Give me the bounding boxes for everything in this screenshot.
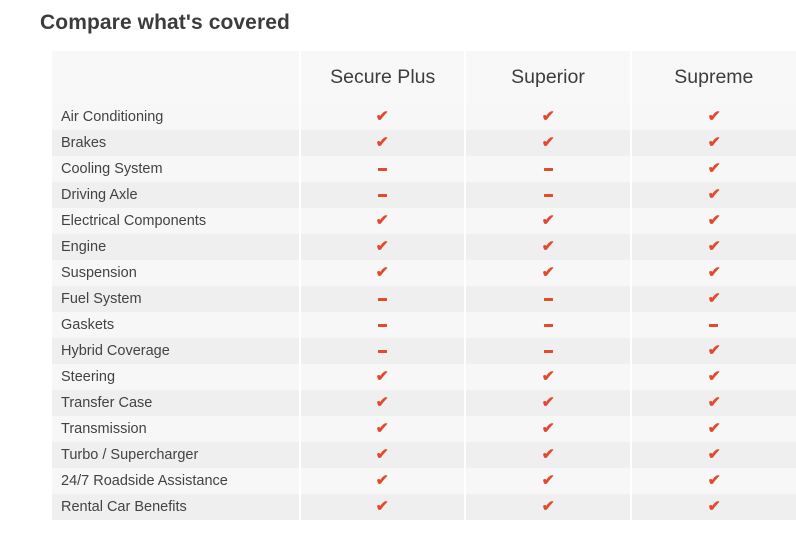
check-icon: ✔ — [541, 369, 554, 384]
cell-supreme: ✔ — [631, 182, 796, 208]
cell-secure-plus: ✔ — [300, 364, 465, 390]
cell-superior — [465, 156, 630, 182]
check-icon: ✔ — [376, 421, 389, 436]
cell-superior: ✔ — [465, 494, 630, 520]
dash-icon — [378, 298, 387, 301]
check-icon: ✔ — [376, 447, 389, 462]
dash-icon — [544, 168, 553, 171]
cell-superior: ✔ — [465, 468, 630, 494]
table-row: Electrical Components✔✔✔ — [52, 208, 796, 234]
cell-secure-plus: ✔ — [300, 390, 465, 416]
table-body: Air Conditioning✔✔✔Brakes✔✔✔Cooling Syst… — [52, 104, 796, 520]
check-icon: ✔ — [541, 499, 554, 514]
row-label-steering: Steering — [52, 364, 300, 390]
table-row: Brakes✔✔✔ — [52, 130, 796, 156]
cell-supreme: ✔ — [631, 286, 796, 312]
table-row: Steering✔✔✔ — [52, 364, 796, 390]
cell-supreme: ✔ — [631, 104, 796, 130]
row-label-brakes: Brakes — [52, 130, 300, 156]
dash-icon — [378, 194, 387, 197]
check-icon: ✔ — [541, 265, 554, 280]
cell-secure-plus: ✔ — [300, 494, 465, 520]
cell-secure-plus — [300, 156, 465, 182]
row-label-turbo-supercharger: Turbo / Supercharger — [52, 442, 300, 468]
check-icon: ✔ — [707, 161, 720, 176]
table-row: Hybrid Coverage✔ — [52, 338, 796, 364]
compare-table: Secure Plus Superior Supreme Air Conditi… — [52, 51, 796, 520]
dash-icon — [544, 350, 553, 353]
table-row: Suspension✔✔✔ — [52, 260, 796, 286]
cell-supreme: ✔ — [631, 234, 796, 260]
row-label-suspension: Suspension — [52, 260, 300, 286]
cell-secure-plus: ✔ — [300, 442, 465, 468]
row-label-transfer-case: Transfer Case — [52, 390, 300, 416]
cell-secure-plus: ✔ — [300, 130, 465, 156]
check-icon: ✔ — [707, 213, 720, 228]
check-icon: ✔ — [707, 187, 720, 202]
row-label-24-7-roadside-assistance: 24/7 Roadside Assistance — [52, 468, 300, 494]
cell-superior: ✔ — [465, 442, 630, 468]
row-label-electrical-components: Electrical Components — [52, 208, 300, 234]
table-row: Gaskets — [52, 312, 796, 338]
check-icon: ✔ — [541, 239, 554, 254]
cell-superior — [465, 312, 630, 338]
table-row: Engine✔✔✔ — [52, 234, 796, 260]
check-icon: ✔ — [376, 369, 389, 384]
cell-superior: ✔ — [465, 208, 630, 234]
cell-supreme: ✔ — [631, 494, 796, 520]
cell-superior: ✔ — [465, 390, 630, 416]
cell-secure-plus: ✔ — [300, 208, 465, 234]
cell-supreme: ✔ — [631, 260, 796, 286]
dash-icon — [378, 168, 387, 171]
column-header-secure-plus[interactable]: Secure Plus — [300, 51, 465, 104]
dash-icon — [709, 324, 718, 327]
row-label-air-conditioning: Air Conditioning — [52, 104, 300, 130]
cell-secure-plus: ✔ — [300, 416, 465, 442]
cell-superior: ✔ — [465, 234, 630, 260]
row-label-fuel-system: Fuel System — [52, 286, 300, 312]
dash-icon — [544, 298, 553, 301]
cell-superior: ✔ — [465, 130, 630, 156]
coverage-comparison-table: Secure Plus Superior Supreme Air Conditi… — [52, 51, 796, 520]
check-icon: ✔ — [541, 109, 554, 124]
dash-icon — [378, 324, 387, 327]
check-icon: ✔ — [376, 473, 389, 488]
check-icon: ✔ — [376, 239, 389, 254]
cell-supreme: ✔ — [631, 390, 796, 416]
check-icon: ✔ — [707, 369, 720, 384]
cell-supreme: ✔ — [631, 416, 796, 442]
table-row: Fuel System✔ — [52, 286, 796, 312]
row-label-transmission: Transmission — [52, 416, 300, 442]
cell-supreme: ✔ — [631, 338, 796, 364]
check-icon: ✔ — [376, 499, 389, 514]
cell-secure-plus — [300, 286, 465, 312]
column-header-supreme[interactable]: Supreme — [631, 51, 796, 104]
table-row: 24/7 Roadside Assistance✔✔✔ — [52, 468, 796, 494]
table-row: Transfer Case✔✔✔ — [52, 390, 796, 416]
cell-superior — [465, 182, 630, 208]
check-icon: ✔ — [376, 109, 389, 124]
cell-secure-plus: ✔ — [300, 468, 465, 494]
check-icon: ✔ — [707, 135, 720, 150]
column-header-superior[interactable]: Superior — [465, 51, 630, 104]
check-icon: ✔ — [541, 395, 554, 410]
check-icon: ✔ — [376, 265, 389, 280]
check-icon: ✔ — [707, 447, 720, 462]
check-icon: ✔ — [541, 473, 554, 488]
dash-icon — [544, 324, 553, 327]
row-label-driving-axle: Driving Axle — [52, 182, 300, 208]
row-label-rental-car-benefits: Rental Car Benefits — [52, 494, 300, 520]
cell-superior — [465, 286, 630, 312]
check-icon: ✔ — [707, 421, 720, 436]
table-row: Cooling System✔ — [52, 156, 796, 182]
table-row: Turbo / Supercharger✔✔✔ — [52, 442, 796, 468]
check-icon: ✔ — [707, 291, 720, 306]
row-label-hybrid-coverage: Hybrid Coverage — [52, 338, 300, 364]
cell-superior: ✔ — [465, 416, 630, 442]
cell-supreme — [631, 312, 796, 338]
cell-superior: ✔ — [465, 260, 630, 286]
check-icon: ✔ — [541, 447, 554, 462]
table-row: Air Conditioning✔✔✔ — [52, 104, 796, 130]
check-icon: ✔ — [707, 395, 720, 410]
cell-supreme: ✔ — [631, 442, 796, 468]
check-icon: ✔ — [376, 395, 389, 410]
dash-icon — [378, 350, 387, 353]
table-header-row: Secure Plus Superior Supreme — [52, 51, 796, 104]
cell-secure-plus: ✔ — [300, 104, 465, 130]
cell-supreme: ✔ — [631, 208, 796, 234]
cell-supreme: ✔ — [631, 130, 796, 156]
row-label-cooling-system: Cooling System — [52, 156, 300, 182]
cell-superior — [465, 338, 630, 364]
page-title: Compare what's covered — [40, 9, 290, 37]
cell-superior: ✔ — [465, 364, 630, 390]
check-icon: ✔ — [707, 499, 720, 514]
cell-superior: ✔ — [465, 104, 630, 130]
check-icon: ✔ — [541, 213, 554, 228]
cell-secure-plus: ✔ — [300, 234, 465, 260]
check-icon: ✔ — [707, 343, 720, 358]
row-label-gaskets: Gaskets — [52, 312, 300, 338]
dash-icon — [544, 194, 553, 197]
table-row: Driving Axle✔ — [52, 182, 796, 208]
table-row: Rental Car Benefits✔✔✔ — [52, 494, 796, 520]
check-icon: ✔ — [376, 135, 389, 150]
cell-secure-plus: ✔ — [300, 260, 465, 286]
cell-secure-plus — [300, 338, 465, 364]
table-header: Secure Plus Superior Supreme — [52, 51, 796, 104]
check-icon: ✔ — [541, 421, 554, 436]
cell-supreme: ✔ — [631, 468, 796, 494]
check-icon: ✔ — [707, 473, 720, 488]
table-row: Transmission✔✔✔ — [52, 416, 796, 442]
cell-supreme: ✔ — [631, 156, 796, 182]
check-icon: ✔ — [707, 265, 720, 280]
check-icon: ✔ — [707, 239, 720, 254]
column-header-feature — [52, 51, 300, 104]
cell-secure-plus — [300, 182, 465, 208]
row-label-engine: Engine — [52, 234, 300, 260]
check-icon: ✔ — [376, 213, 389, 228]
check-icon: ✔ — [707, 109, 720, 124]
cell-supreme: ✔ — [631, 364, 796, 390]
cell-secure-plus — [300, 312, 465, 338]
check-icon: ✔ — [541, 135, 554, 150]
